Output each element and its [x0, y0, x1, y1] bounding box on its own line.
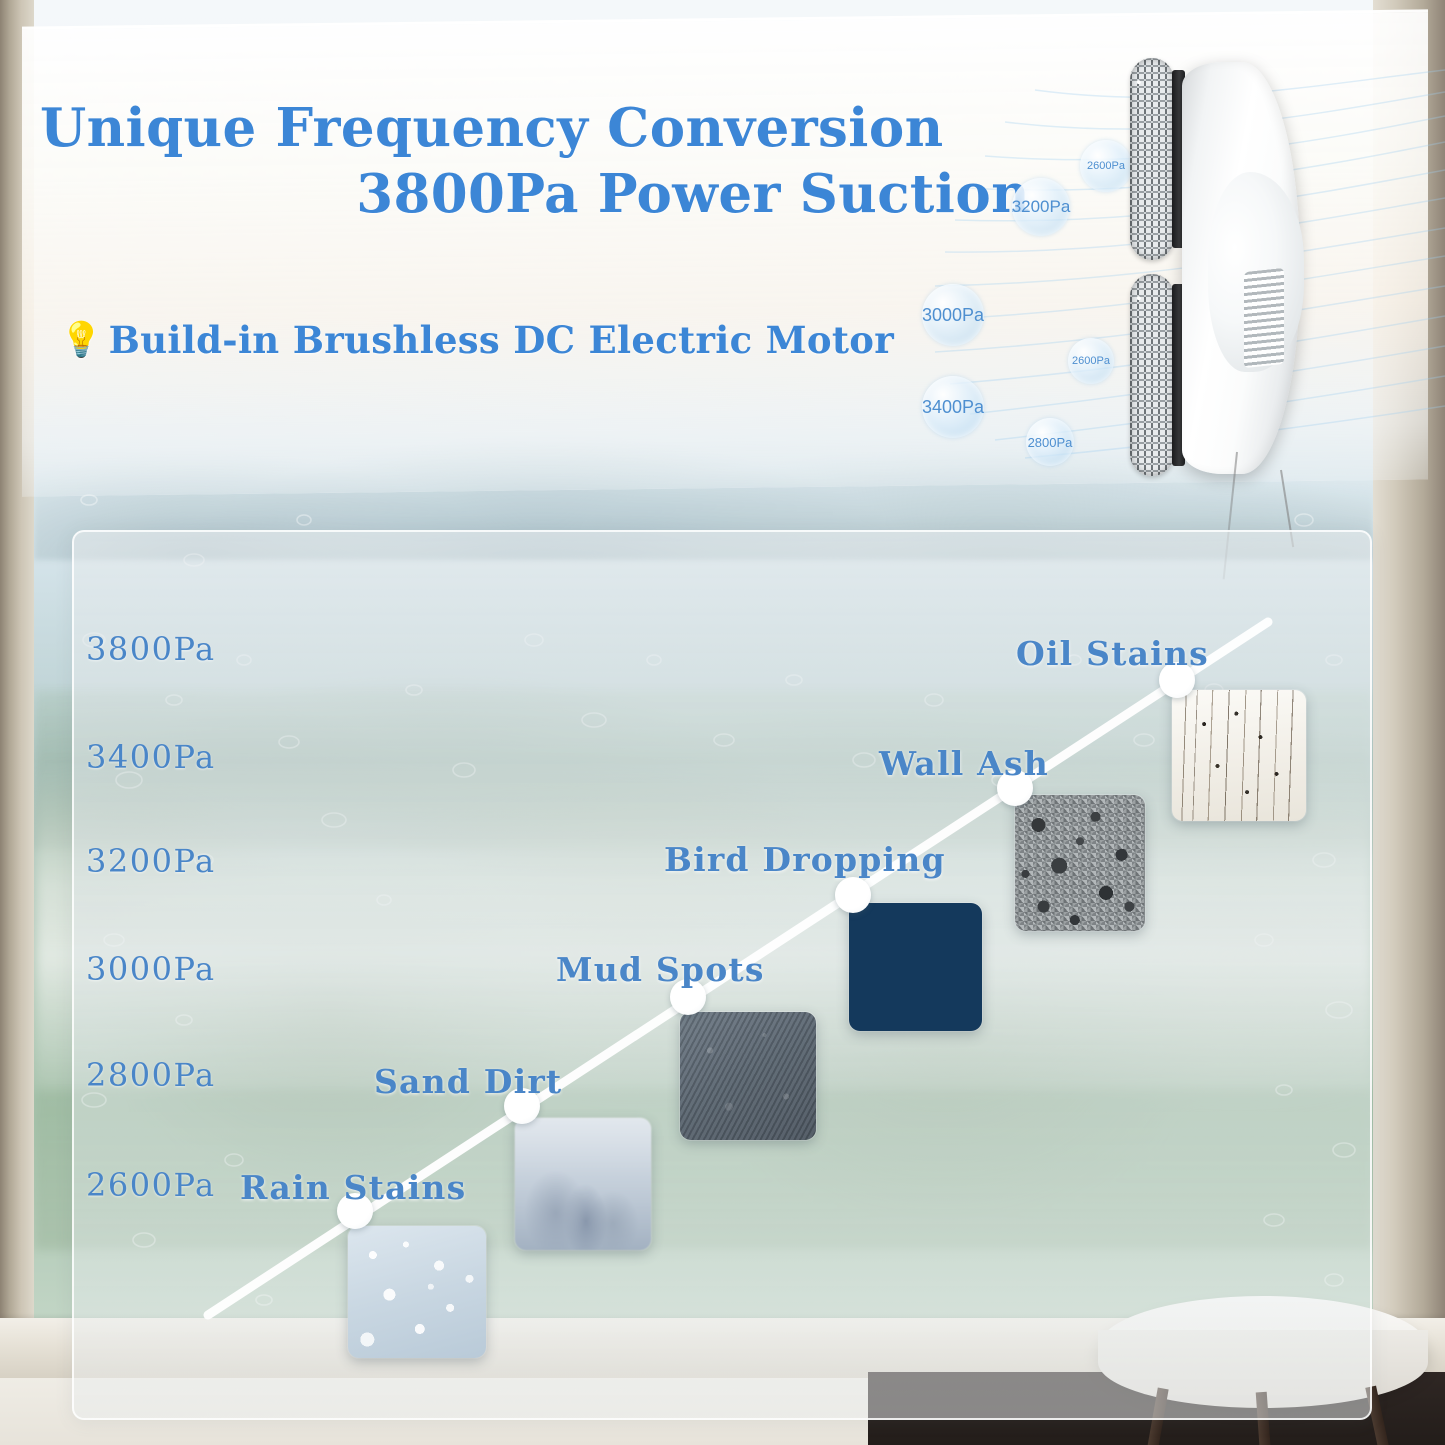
airflow-bubble: 3200Pa: [1012, 178, 1070, 236]
swatch-wall-ash: [1015, 795, 1145, 931]
swatch-sand-dirt: [515, 1118, 651, 1250]
data-point-label: Mud Spots: [556, 950, 765, 989]
title-line-1: Unique Frequency Conversion: [40, 96, 1030, 162]
swatch-oil-stains: [1172, 690, 1306, 821]
data-point-dot: [835, 877, 871, 913]
subtitle-text: Build-in Brushless DC Electric Motor: [109, 318, 894, 362]
airflow-bubble: 3000Pa: [922, 284, 984, 346]
data-point-label: Sand Dirt: [374, 1062, 562, 1101]
y-axis-tick-label: 3800Pa: [86, 630, 216, 668]
airflow-bubble: 3400Pa: [922, 376, 984, 438]
data-point-label: Bird Dropping: [664, 840, 946, 879]
lightbulb-icon: 💡: [60, 323, 103, 357]
microfiber-pad-top-icon: [1130, 58, 1174, 260]
title-line-2: 3800Pa Power Suction: [40, 162, 1030, 228]
y-axis-tick-label: 2600Pa: [86, 1166, 216, 1204]
airflow-bubble: 2800Pa: [1026, 418, 1074, 466]
page-title: Unique Frequency Conversion 3800Pa Power…: [40, 96, 1030, 227]
vent-grille-icon: [1244, 268, 1284, 368]
y-axis-tick-label: 2800Pa: [86, 1056, 216, 1094]
y-axis-tick-label: 3400Pa: [86, 738, 216, 776]
microfiber-pad-bottom-icon: [1130, 274, 1174, 476]
data-point-label: Rain Stains: [240, 1168, 466, 1207]
subtitle-row: 💡 Build-in Brushless DC Electric Motor: [60, 318, 894, 362]
infographic-canvas: Unique Frequency Conversion 3800Pa Power…: [0, 0, 1445, 1445]
airflow-bubble: 2600Pa: [1068, 338, 1114, 384]
window-cleaning-robot: [1130, 52, 1310, 482]
y-axis-tick-label: 3000Pa: [86, 950, 216, 988]
swatch-bird-dropping: [849, 903, 982, 1031]
swatch-rain-stains: [348, 1226, 486, 1358]
data-point-label: Wall Ash: [879, 744, 1049, 783]
airflow-bubble: 2600Pa: [1080, 140, 1132, 192]
data-point-label: Oil Stains: [1016, 634, 1209, 673]
swatch-mud-spots: [680, 1012, 816, 1140]
y-axis-tick-label: 3200Pa: [86, 842, 216, 880]
